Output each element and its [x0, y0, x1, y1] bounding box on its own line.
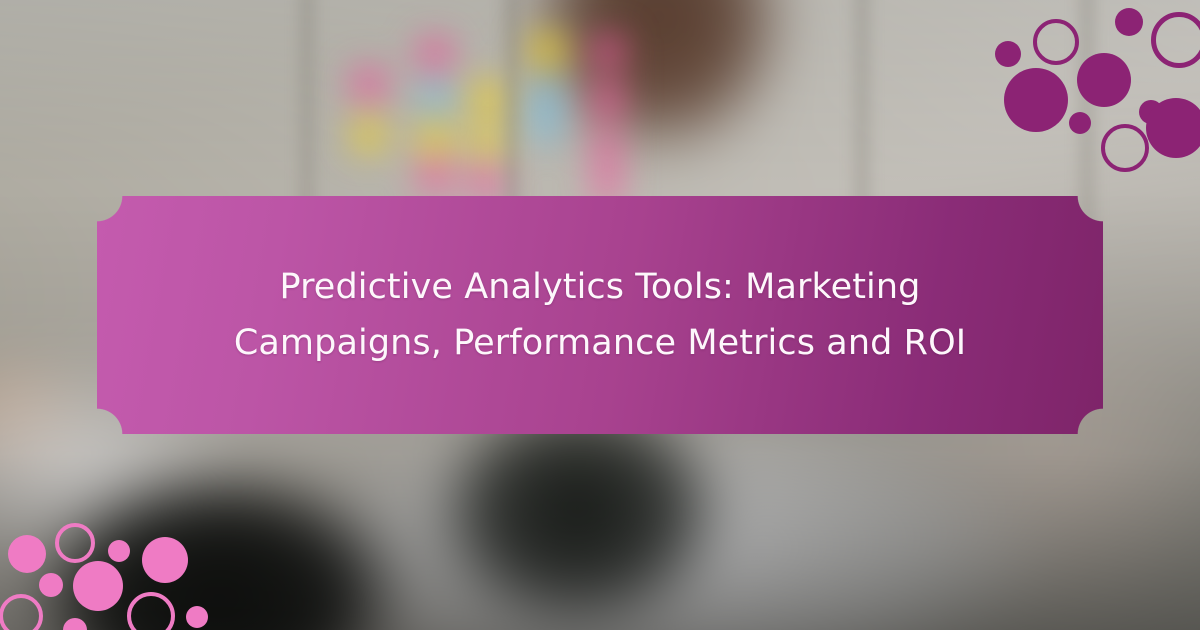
title-banner: Predictive Analytics Tools: Marketing Ca…	[97, 196, 1103, 434]
promo-banner-image: Predictive Analytics Tools: Marketing Ca…	[0, 0, 1200, 630]
banner-title: Predictive Analytics Tools: Marketing Ca…	[170, 259, 1030, 371]
